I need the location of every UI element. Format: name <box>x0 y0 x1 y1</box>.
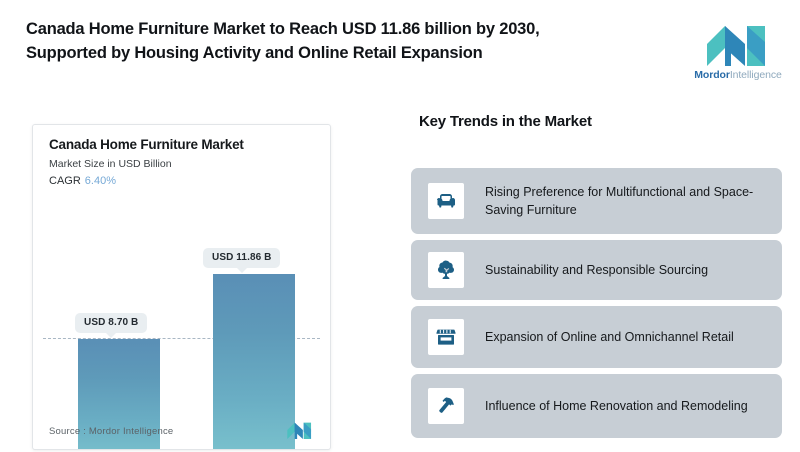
bar-value-label-2030: USD 11.86 B <box>203 248 280 268</box>
trend-card-omnichannel[interactable]: Expansion of Online and Omnichannel Reta… <box>411 306 782 368</box>
bar-chart-plot: USD 8.70 B USD 11.86 B 2025 2030 <box>33 195 330 449</box>
store-icon <box>428 319 464 355</box>
chart-cagr-label: CAGR <box>49 175 81 187</box>
sofa-icon <box>428 183 464 219</box>
brand-logo-text-bold: Mordor <box>694 69 730 81</box>
chart-title: Canada Home Furniture Market <box>49 137 244 152</box>
page-title: Canada Home Furniture Market to Reach US… <box>26 18 666 66</box>
mordor-m-mark-icon <box>705 22 771 66</box>
brand-logo-text-light: Intelligence <box>730 69 782 81</box>
source-mordor-m-mark-icon <box>286 421 314 439</box>
trend-card-label: Sustainability and Responsible Sourcing <box>485 261 708 279</box>
infographic-page: Canada Home Furniture Market to Reach US… <box>0 0 800 452</box>
tree-icon <box>428 252 464 288</box>
chart-source: Source : Mordor Intelligence <box>49 426 173 437</box>
trend-card-label: Influence of Home Renovation and Remodel… <box>485 397 748 415</box>
trend-card-label: Expansion of Online and Omnichannel Reta… <box>485 328 734 346</box>
brand-logo-text: MordorIntelligence <box>694 69 781 81</box>
trends-heading: Key Trends in the Market <box>419 113 592 130</box>
page-title-line-1: Canada Home Furniture Market to Reach US… <box>26 18 666 42</box>
trend-card-multifunctional[interactable]: Rising Preference for Multifunctional an… <box>411 168 782 234</box>
page-title-line-2: Supported by Housing Activity and Online… <box>26 42 666 66</box>
brand-logo: MordorIntelligence <box>686 8 790 94</box>
trend-card-renovation[interactable]: Influence of Home Renovation and Remodel… <box>411 374 782 438</box>
chart-card: Canada Home Furniture Market Market Size… <box>32 124 331 450</box>
hammer-icon <box>428 388 464 424</box>
trend-card-sustainability[interactable]: Sustainability and Responsible Sourcing <box>411 240 782 300</box>
trend-card-label: Rising Preference for Multifunctional an… <box>485 183 782 219</box>
chart-subtitle: Market Size in USD Billion <box>49 158 172 170</box>
bar-value-label-2025: USD 8.70 B <box>75 313 147 333</box>
bar-2030 <box>213 274 295 450</box>
chart-cagr: CAGR6.40% <box>49 175 116 187</box>
chart-cagr-value: 6.40% <box>85 175 116 187</box>
